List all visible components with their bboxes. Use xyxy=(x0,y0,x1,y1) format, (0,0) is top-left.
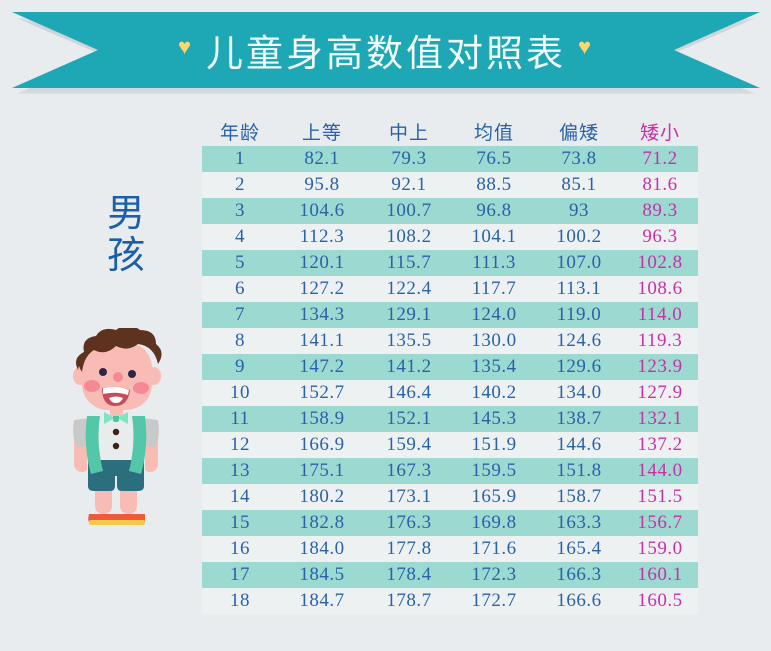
height-reference-table: 年龄 上等 中上 均值 偏矮 矮小 182.179.376.573.871.2 … xyxy=(202,116,698,614)
table-row: 12166.9159.4151.9144.6137.2 xyxy=(202,432,698,458)
cell-excellent: 141.1 xyxy=(278,330,366,352)
table-row: 14180.2173.1165.9158.7151.5 xyxy=(202,484,698,510)
cell-below-avg: 165.4 xyxy=(536,538,622,560)
cell-average: 117.7 xyxy=(452,278,536,300)
cell-age: 4 xyxy=(202,226,278,248)
cell-average: 135.4 xyxy=(452,356,536,378)
cell-above-avg: 167.3 xyxy=(366,460,452,482)
banner-ribbon: ♥ 儿童身高数值对照表 ♥ xyxy=(12,12,760,88)
cell-average: 104.1 xyxy=(452,226,536,248)
cell-short: 127.9 xyxy=(622,382,698,404)
cell-short: 108.6 xyxy=(622,278,698,300)
title-banner: ♥ 儿童身高数值对照表 ♥ xyxy=(0,12,771,90)
cell-average: 76.5 xyxy=(452,148,536,170)
boy-illustration-svg xyxy=(62,328,192,533)
cell-below-avg: 107.0 xyxy=(536,252,622,274)
cell-average: 130.0 xyxy=(452,330,536,352)
cell-excellent: 95.8 xyxy=(278,174,366,196)
cell-excellent: 184.7 xyxy=(278,590,366,612)
cell-short: 156.7 xyxy=(622,512,698,534)
cell-above-avg: 176.3 xyxy=(366,512,452,534)
page-title-text: 儿童身高数值对照表 xyxy=(206,23,566,77)
heart-icon: ♥ xyxy=(178,36,194,58)
cell-excellent: 82.1 xyxy=(278,148,366,170)
cell-below-avg: 163.3 xyxy=(536,512,622,534)
cell-average: 140.2 xyxy=(452,382,536,404)
cell-short: 151.5 xyxy=(622,486,698,508)
cell-above-avg: 178.7 xyxy=(366,590,452,612)
cell-excellent: 158.9 xyxy=(278,408,366,430)
table-row: 7134.3129.1124.0119.0114.0 xyxy=(202,302,698,328)
cell-age: 1 xyxy=(202,148,278,170)
gender-label-line-1: 男 xyxy=(86,193,166,235)
table-row: 16184.0177.8171.6165.4159.0 xyxy=(202,536,698,562)
column-header-excellent: 上等 xyxy=(278,118,366,145)
cell-above-avg: 115.7 xyxy=(366,252,452,274)
cell-below-avg: 100.2 xyxy=(536,226,622,248)
cell-age: 16 xyxy=(202,538,278,560)
cell-excellent: 184.5 xyxy=(278,564,366,586)
column-header-above-avg: 中上 xyxy=(366,118,452,145)
gender-label-line-2: 孩 xyxy=(86,235,166,277)
cell-above-avg: 173.1 xyxy=(366,486,452,508)
cell-age: 17 xyxy=(202,564,278,586)
cell-excellent: 184.0 xyxy=(278,538,366,560)
cell-short: 144.0 xyxy=(622,460,698,482)
cell-excellent: 147.2 xyxy=(278,356,366,378)
cell-below-avg: 158.7 xyxy=(536,486,622,508)
cell-average: 88.5 xyxy=(452,174,536,196)
cell-average: 165.9 xyxy=(452,486,536,508)
cell-below-avg: 124.6 xyxy=(536,330,622,352)
gender-label: 男 孩 xyxy=(86,193,166,277)
table-row: 3104.6100.796.89389.3 xyxy=(202,198,698,224)
cell-above-avg: 141.2 xyxy=(366,356,452,378)
cell-short: 123.9 xyxy=(622,356,698,378)
cell-age: 11 xyxy=(202,408,278,430)
cell-excellent: 175.1 xyxy=(278,460,366,482)
table-row: 8141.1135.5130.0124.6119.3 xyxy=(202,328,698,354)
cell-average: 145.3 xyxy=(452,408,536,430)
cell-above-avg: 108.2 xyxy=(366,226,452,248)
page-title: ♥ 儿童身高数值对照表 ♥ xyxy=(178,23,594,77)
cell-above-avg: 122.4 xyxy=(366,278,452,300)
cell-excellent: 112.3 xyxy=(278,226,366,248)
cell-below-avg: 134.0 xyxy=(536,382,622,404)
cell-above-avg: 152.1 xyxy=(366,408,452,430)
cell-excellent: 182.8 xyxy=(278,512,366,534)
table-row: 10152.7146.4140.2134.0127.9 xyxy=(202,380,698,406)
cell-age: 6 xyxy=(202,278,278,300)
cell-short: 102.8 xyxy=(622,252,698,274)
table-row: 9147.2141.2135.4129.6123.9 xyxy=(202,354,698,380)
cell-below-avg: 85.1 xyxy=(536,174,622,196)
cell-short: 119.3 xyxy=(622,330,698,352)
cell-above-avg: 146.4 xyxy=(366,382,452,404)
cell-above-avg: 178.4 xyxy=(366,564,452,586)
cell-excellent: 180.2 xyxy=(278,486,366,508)
cell-average: 124.0 xyxy=(452,304,536,326)
cell-short: 81.6 xyxy=(622,174,698,196)
heart-icon: ♥ xyxy=(578,36,594,58)
column-header-short: 矮小 xyxy=(622,118,698,145)
cell-average: 151.9 xyxy=(452,434,536,456)
cell-excellent: 120.1 xyxy=(278,252,366,274)
cell-age: 2 xyxy=(202,174,278,196)
cell-excellent: 127.2 xyxy=(278,278,366,300)
column-header-age: 年龄 xyxy=(202,118,278,145)
cell-below-avg: 166.6 xyxy=(536,590,622,612)
cell-average: 169.8 xyxy=(452,512,536,534)
cell-age: 8 xyxy=(202,330,278,352)
cell-short: 159.0 xyxy=(622,538,698,560)
table-row: 182.179.376.573.871.2 xyxy=(202,146,698,172)
cell-average: 172.3 xyxy=(452,564,536,586)
cell-above-avg: 177.8 xyxy=(366,538,452,560)
table-row: 18184.7178.7172.7166.6160.5 xyxy=(202,588,698,614)
table-row: 295.892.188.585.181.6 xyxy=(202,172,698,198)
cell-above-avg: 100.7 xyxy=(366,200,452,222)
cell-below-avg: 166.3 xyxy=(536,564,622,586)
table-row: 15182.8176.3169.8163.3156.7 xyxy=(202,510,698,536)
cell-below-avg: 144.6 xyxy=(536,434,622,456)
cell-short: 160.5 xyxy=(622,590,698,612)
cell-below-avg: 113.1 xyxy=(536,278,622,300)
cell-age: 18 xyxy=(202,590,278,612)
cell-excellent: 166.9 xyxy=(278,434,366,456)
cell-below-avg: 119.0 xyxy=(536,304,622,326)
cell-age: 14 xyxy=(202,486,278,508)
cell-below-avg: 151.8 xyxy=(536,460,622,482)
cell-age: 5 xyxy=(202,252,278,274)
column-header-average: 均值 xyxy=(452,118,536,145)
cell-below-avg: 129.6 xyxy=(536,356,622,378)
cell-short: 89.3 xyxy=(622,200,698,222)
table-row: 17184.5178.4172.3166.3160.1 xyxy=(202,562,698,588)
cell-above-avg: 79.3 xyxy=(366,148,452,170)
cell-excellent: 104.6 xyxy=(278,200,366,222)
cell-above-avg: 92.1 xyxy=(366,174,452,196)
cell-excellent: 134.3 xyxy=(278,304,366,326)
cell-above-avg: 159.4 xyxy=(366,434,452,456)
table-row: 5120.1115.7111.3107.0102.8 xyxy=(202,250,698,276)
cell-short: 96.3 xyxy=(622,226,698,248)
cell-short: 71.2 xyxy=(622,148,698,170)
cell-age: 12 xyxy=(202,434,278,456)
cell-age: 13 xyxy=(202,460,278,482)
cell-above-avg: 135.5 xyxy=(366,330,452,352)
table-row: 13175.1167.3159.5151.8144.0 xyxy=(202,458,698,484)
cell-short: 160.1 xyxy=(622,564,698,586)
column-header-below-avg: 偏矮 xyxy=(536,118,622,145)
cell-age: 15 xyxy=(202,512,278,534)
table-header-row: 年龄 上等 中上 均值 偏矮 矮小 xyxy=(202,116,698,146)
cell-average: 159.5 xyxy=(452,460,536,482)
cell-short: 114.0 xyxy=(622,304,698,326)
cell-excellent: 152.7 xyxy=(278,382,366,404)
cell-average: 171.6 xyxy=(452,538,536,560)
cell-age: 9 xyxy=(202,356,278,378)
cell-below-avg: 93 xyxy=(536,200,622,222)
cell-average: 96.8 xyxy=(452,200,536,222)
table-row: 6127.2122.4117.7113.1108.6 xyxy=(202,276,698,302)
boy-illustration xyxy=(62,328,192,533)
cell-average: 111.3 xyxy=(452,252,536,274)
cell-below-avg: 138.7 xyxy=(536,408,622,430)
cell-short: 132.1 xyxy=(622,408,698,430)
cell-above-avg: 129.1 xyxy=(366,304,452,326)
table-row: 4112.3108.2104.1100.296.3 xyxy=(202,224,698,250)
table-row: 11158.9152.1145.3138.7132.1 xyxy=(202,406,698,432)
cell-age: 3 xyxy=(202,200,278,222)
cell-age: 7 xyxy=(202,304,278,326)
cell-age: 10 xyxy=(202,382,278,404)
cell-average: 172.7 xyxy=(452,590,536,612)
cell-short: 137.2 xyxy=(622,434,698,456)
cell-below-avg: 73.8 xyxy=(536,148,622,170)
